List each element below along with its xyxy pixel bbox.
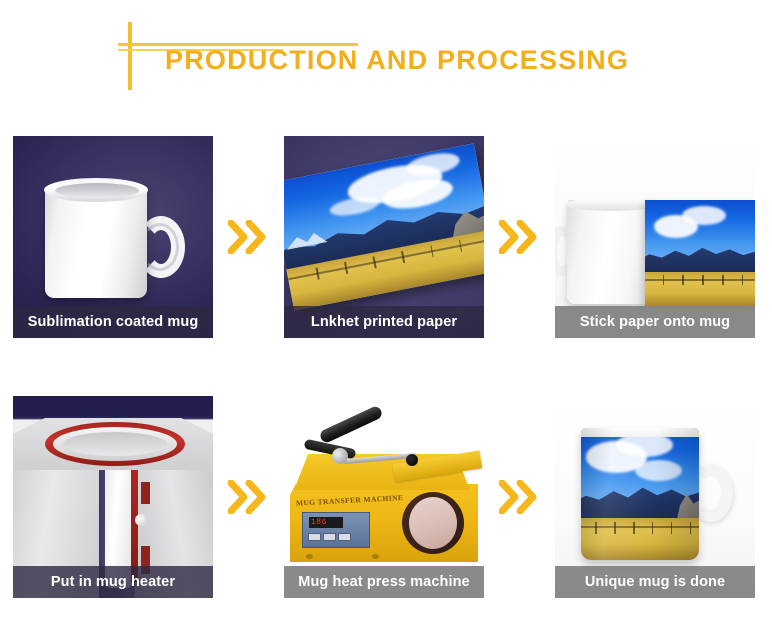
fence-post <box>702 275 704 285</box>
step-card-4[interactable]: Put in mug heater <box>13 396 213 598</box>
step-card-2[interactable]: Lnkhet printed paper <box>284 136 484 338</box>
page-title: PRODUCTION AND PROCESSING <box>165 45 629 76</box>
fence-post <box>722 275 724 285</box>
mug-body-with-print <box>581 428 699 560</box>
white-mug-graphic <box>45 176 157 298</box>
step-2-caption: Lnkhet printed paper <box>284 306 484 338</box>
press-button[interactable] <box>323 533 336 541</box>
step-1-caption: Sublimation coated mug <box>13 306 213 338</box>
step-3-caption: Stick paper onto mug <box>555 306 755 338</box>
arrow-slot-4 <box>484 396 555 598</box>
press-foot <box>306 554 313 559</box>
mug-shading-overlay <box>581 428 699 560</box>
mug-body <box>567 200 655 304</box>
press-pivot <box>332 448 348 464</box>
double-chevron-right-icon <box>499 480 541 514</box>
landscape-scene <box>645 200 755 306</box>
fence-line <box>645 279 755 281</box>
fence-post <box>742 275 744 285</box>
step-card-5[interactable]: MUG TRANSFER MACHINE 186 Mug heat press … <box>284 396 484 598</box>
step-4-caption: Put in mug heater <box>13 566 213 598</box>
arrow-slot-1 <box>213 136 284 338</box>
heater-knob <box>135 514 147 526</box>
step-5-caption: Mug heat press machine <box>284 566 484 598</box>
step-card-3[interactable]: Stick paper onto mug <box>555 136 755 338</box>
golden-field <box>645 272 755 306</box>
finished-mug-graphic <box>581 428 731 560</box>
press-button[interactable] <box>338 533 351 541</box>
mug-inner-cavity <box>55 183 139 198</box>
double-chevron-right-icon <box>228 220 270 254</box>
page-header: PRODUCTION AND PROCESSING <box>0 0 772 118</box>
deco-vertical-line <box>128 22 132 90</box>
process-row-2: Put in mug heater <box>0 396 772 598</box>
press-pivot-secondary <box>406 454 418 466</box>
process-steps-grid: Sublimation coated mug <box>0 118 772 626</box>
step-card-6[interactable]: Unique mug is done <box>555 396 755 598</box>
mug-rim <box>565 198 657 211</box>
press-lcd-value: 186 <box>311 517 341 528</box>
double-chevron-right-icon <box>499 220 541 254</box>
transfer-paper-graphic <box>645 200 755 306</box>
process-row-1: Sublimation coated mug <box>0 136 772 338</box>
mug-body <box>45 186 147 298</box>
heater-well <box>63 432 167 456</box>
step-6-caption: Unique mug is done <box>555 566 755 598</box>
heating-element-block <box>141 482 150 504</box>
step-card-1[interactable]: Sublimation coated mug <box>13 136 213 338</box>
arrow-slot-2 <box>484 136 555 338</box>
double-chevron-right-icon <box>228 480 270 514</box>
fence-post <box>663 275 665 285</box>
press-heating-band-inner <box>409 497 457 549</box>
fence-post <box>682 275 684 285</box>
arrow-slot-3 <box>213 396 284 598</box>
press-foot <box>372 554 379 559</box>
press-button[interactable] <box>308 533 321 541</box>
